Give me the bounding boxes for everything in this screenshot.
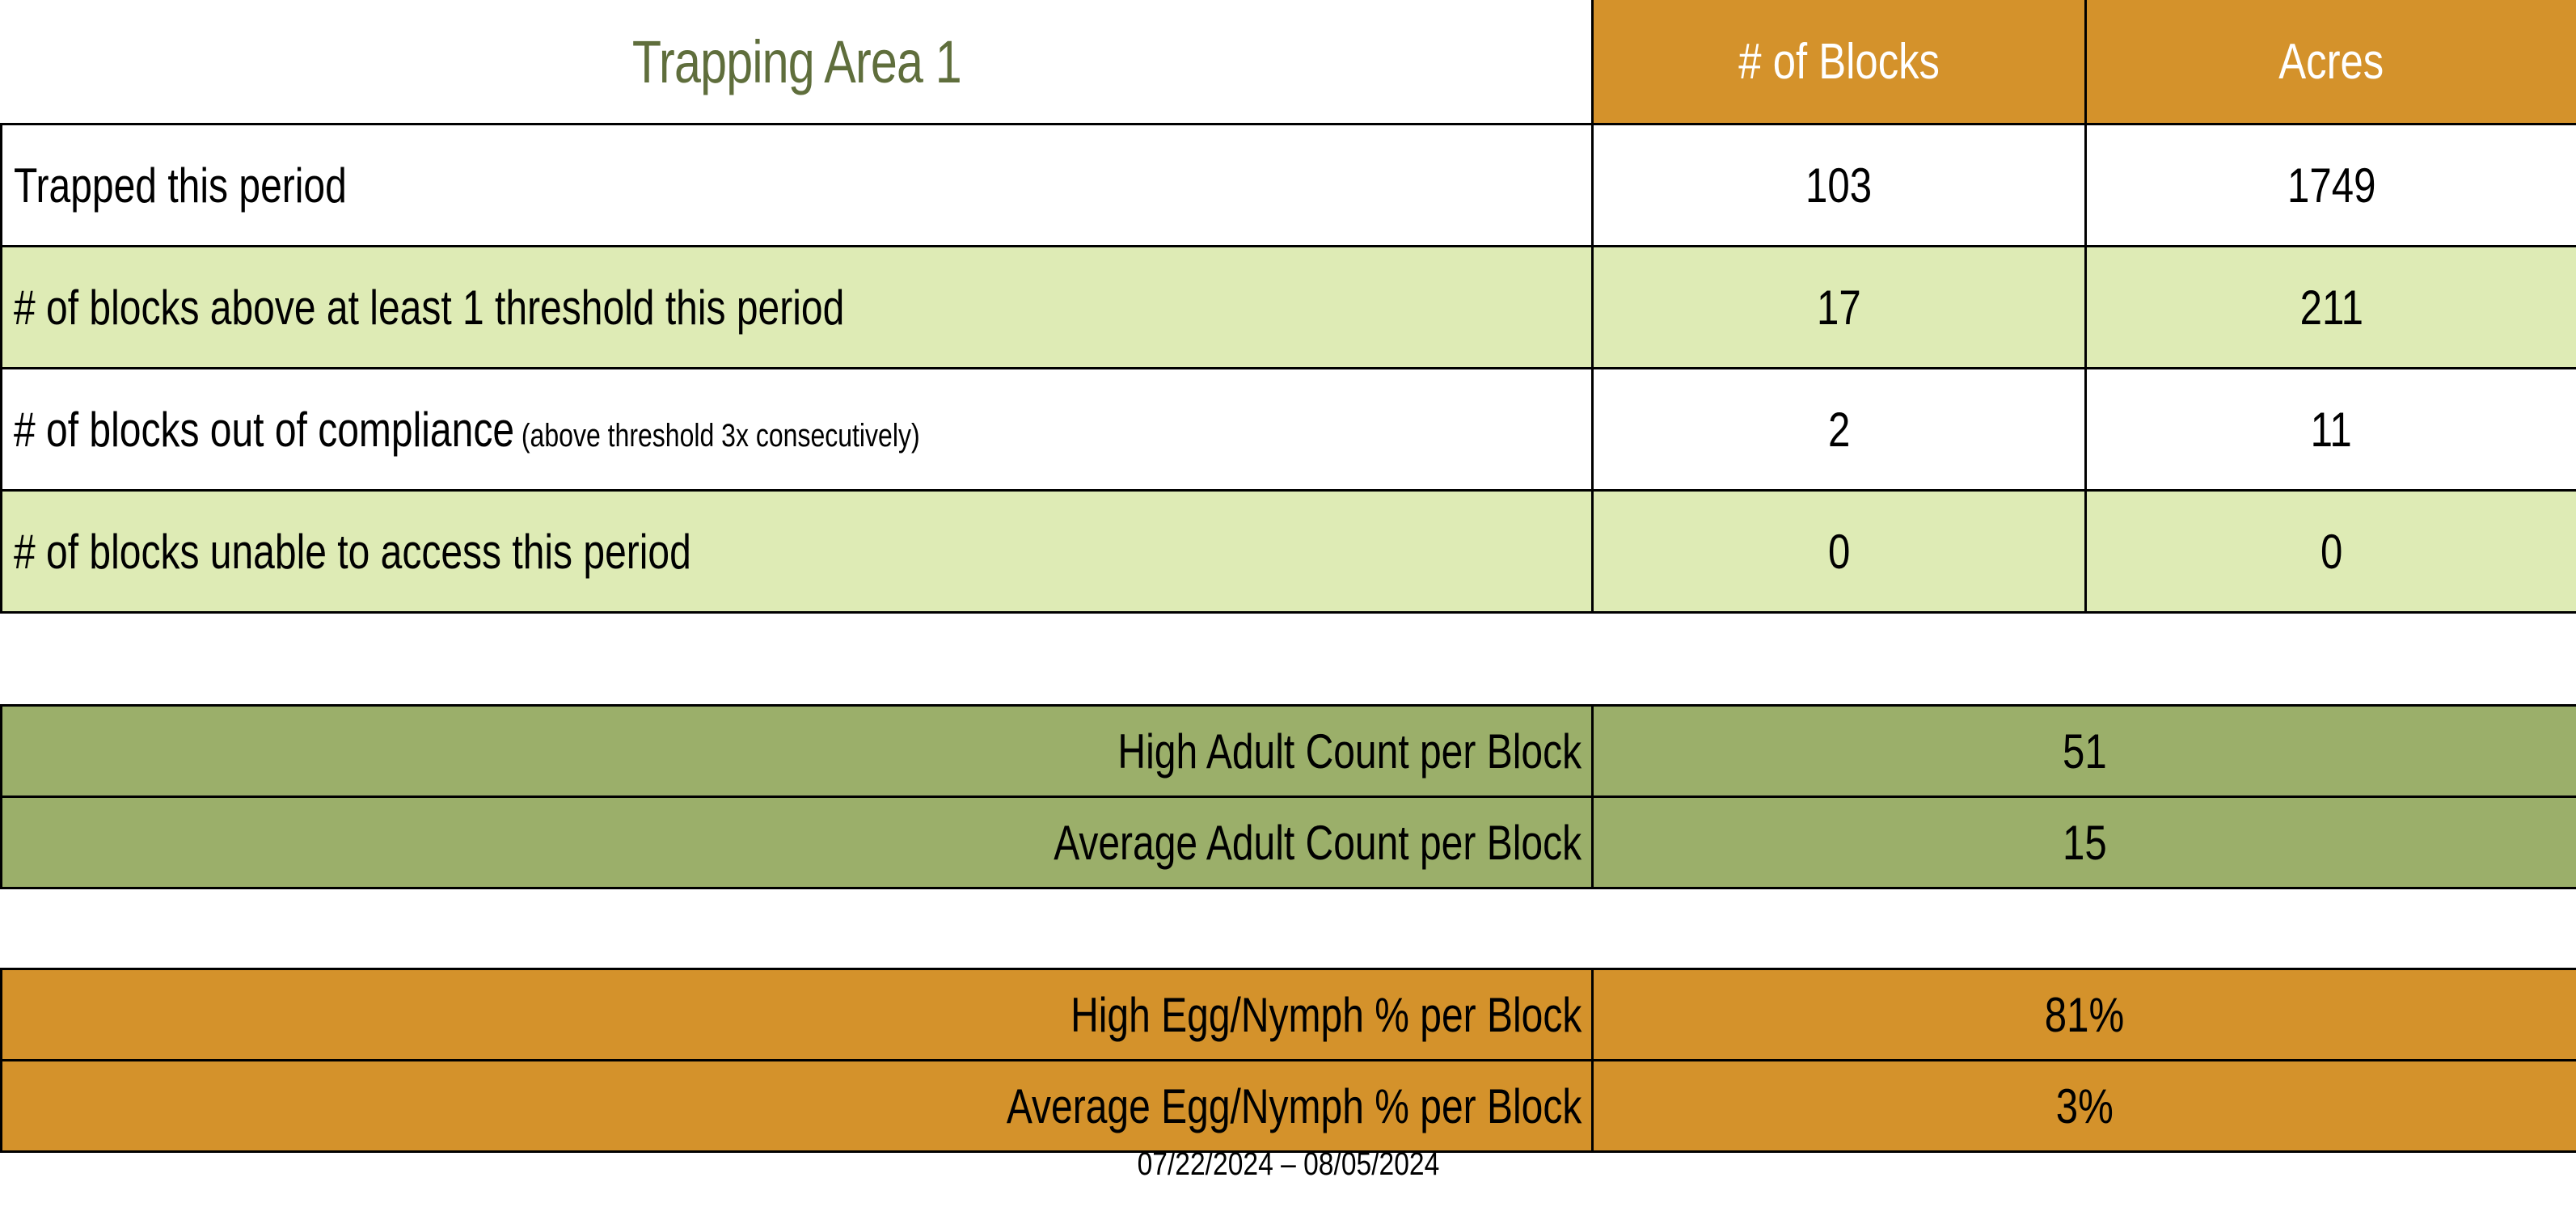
table-row: # of blocks out of compliance (above thr… [2, 369, 2576, 491]
row-label-text: # of blocks unable to access this period [14, 525, 691, 579]
table-row: # of blocks above at least 1 threshold t… [2, 247, 2576, 369]
page-title: Trapping Area 1 [160, 0, 1433, 124]
row-value-blocks-text: 2 [1828, 402, 1850, 458]
row-value-blocks: 103 [1593, 124, 2086, 247]
row-label-text: Average Adult Count per Block [1054, 815, 1581, 871]
row-value-text: 3% [2056, 1078, 2114, 1134]
row-label-unable-to-access: # of blocks unable to access this period [2, 491, 1593, 613]
row-value-acres-text: 1749 [2287, 158, 2375, 213]
row-value-blocks: 2 [1593, 369, 2086, 491]
table-row: High Adult Count per Block 51 [2, 706, 2576, 797]
row-value-acres: 211 [2086, 247, 2576, 369]
row-label-average-egg-nymph: Average Egg/Nymph % per Block [2, 1061, 1593, 1152]
table-row: # of blocks unable to access this period… [2, 491, 2576, 613]
row-value-acres: 0 [2086, 491, 2576, 613]
table-row: Average Adult Count per Block 15 [2, 797, 2576, 888]
date-range-text: 07/22/2024 – 08/05/2024 [1137, 1146, 1439, 1183]
column-header-blocks: # of Blocks [1593, 0, 2086, 124]
date-range-footer: 07/22/2024 – 08/05/2024 [0, 1146, 2576, 1183]
row-label-text: High Adult Count per Block [1117, 724, 1581, 779]
row-sublabel-text: (above threshold 3x consecutively) [514, 418, 920, 454]
row-label-text: High Egg/Nymph % per Block [1071, 987, 1581, 1043]
row-value-acres: 11 [2086, 369, 2576, 491]
trapping-area-report: Trapping Area 1 # of Blocks Acres Trappe… [0, 0, 2576, 1207]
row-label-text: # of blocks out of compliance [14, 403, 514, 457]
row-value-blocks: 0 [1593, 491, 2086, 613]
row-label-high-adult-count: High Adult Count per Block [2, 706, 1593, 797]
row-label-above-threshold: # of blocks above at least 1 threshold t… [2, 247, 1593, 369]
column-header-acres: Acres [2086, 0, 2576, 124]
column-header-blocks-label: # of Blocks [1738, 33, 1940, 91]
egg-nymph-table: High Egg/Nymph % per Block 81% Average E… [0, 968, 2576, 1153]
table-row: High Egg/Nymph % per Block 81% [2, 969, 2576, 1061]
row-value-average-egg-nymph: 3% [1593, 1061, 2576, 1152]
row-label-text: Average Egg/Nymph % per Block [1007, 1078, 1581, 1134]
row-value-high-adult-count: 51 [1593, 706, 2576, 797]
row-value-blocks: 17 [1593, 247, 2086, 369]
row-value-text: 51 [2063, 724, 2107, 779]
row-value-text: 15 [2063, 815, 2107, 871]
row-label-average-adult-count: Average Adult Count per Block [2, 797, 1593, 888]
page-title-text: Trapping Area 1 [631, 27, 961, 96]
row-value-high-egg-nymph: 81% [1593, 969, 2576, 1061]
table-row: Trapped this period 103 1749 [2, 124, 2576, 247]
row-value-acres-text: 11 [2311, 402, 2352, 458]
row-value-acres-text: 0 [2321, 524, 2342, 580]
table-row: Average Egg/Nymph % per Block 3% [2, 1061, 2576, 1152]
row-value-text: 81% [2045, 987, 2124, 1043]
main-summary-table: Trapping Area 1 # of Blocks Acres Trappe… [0, 0, 2576, 614]
row-value-blocks-text: 103 [1805, 158, 1872, 213]
row-value-blocks-text: 17 [1817, 280, 1861, 336]
row-label-high-egg-nymph: High Egg/Nymph % per Block [2, 969, 1593, 1061]
table-header-row: Trapping Area 1 # of Blocks Acres [2, 0, 2576, 124]
adult-count-table: High Adult Count per Block 51 Average Ad… [0, 704, 2576, 889]
row-label-text: # of blocks above at least 1 threshold t… [14, 281, 844, 335]
row-label-trapped-this-period: Trapped this period [2, 124, 1593, 247]
column-header-acres-label: Acres [2279, 33, 2384, 91]
row-label-text: Trapped this period [14, 158, 347, 213]
row-value-acres: 1749 [2086, 124, 2576, 247]
row-label-out-of-compliance: # of blocks out of compliance (above thr… [2, 369, 1593, 491]
row-value-average-adult-count: 15 [1593, 797, 2576, 888]
row-value-acres-text: 211 [2299, 280, 2363, 336]
row-value-blocks-text: 0 [1828, 524, 1850, 580]
